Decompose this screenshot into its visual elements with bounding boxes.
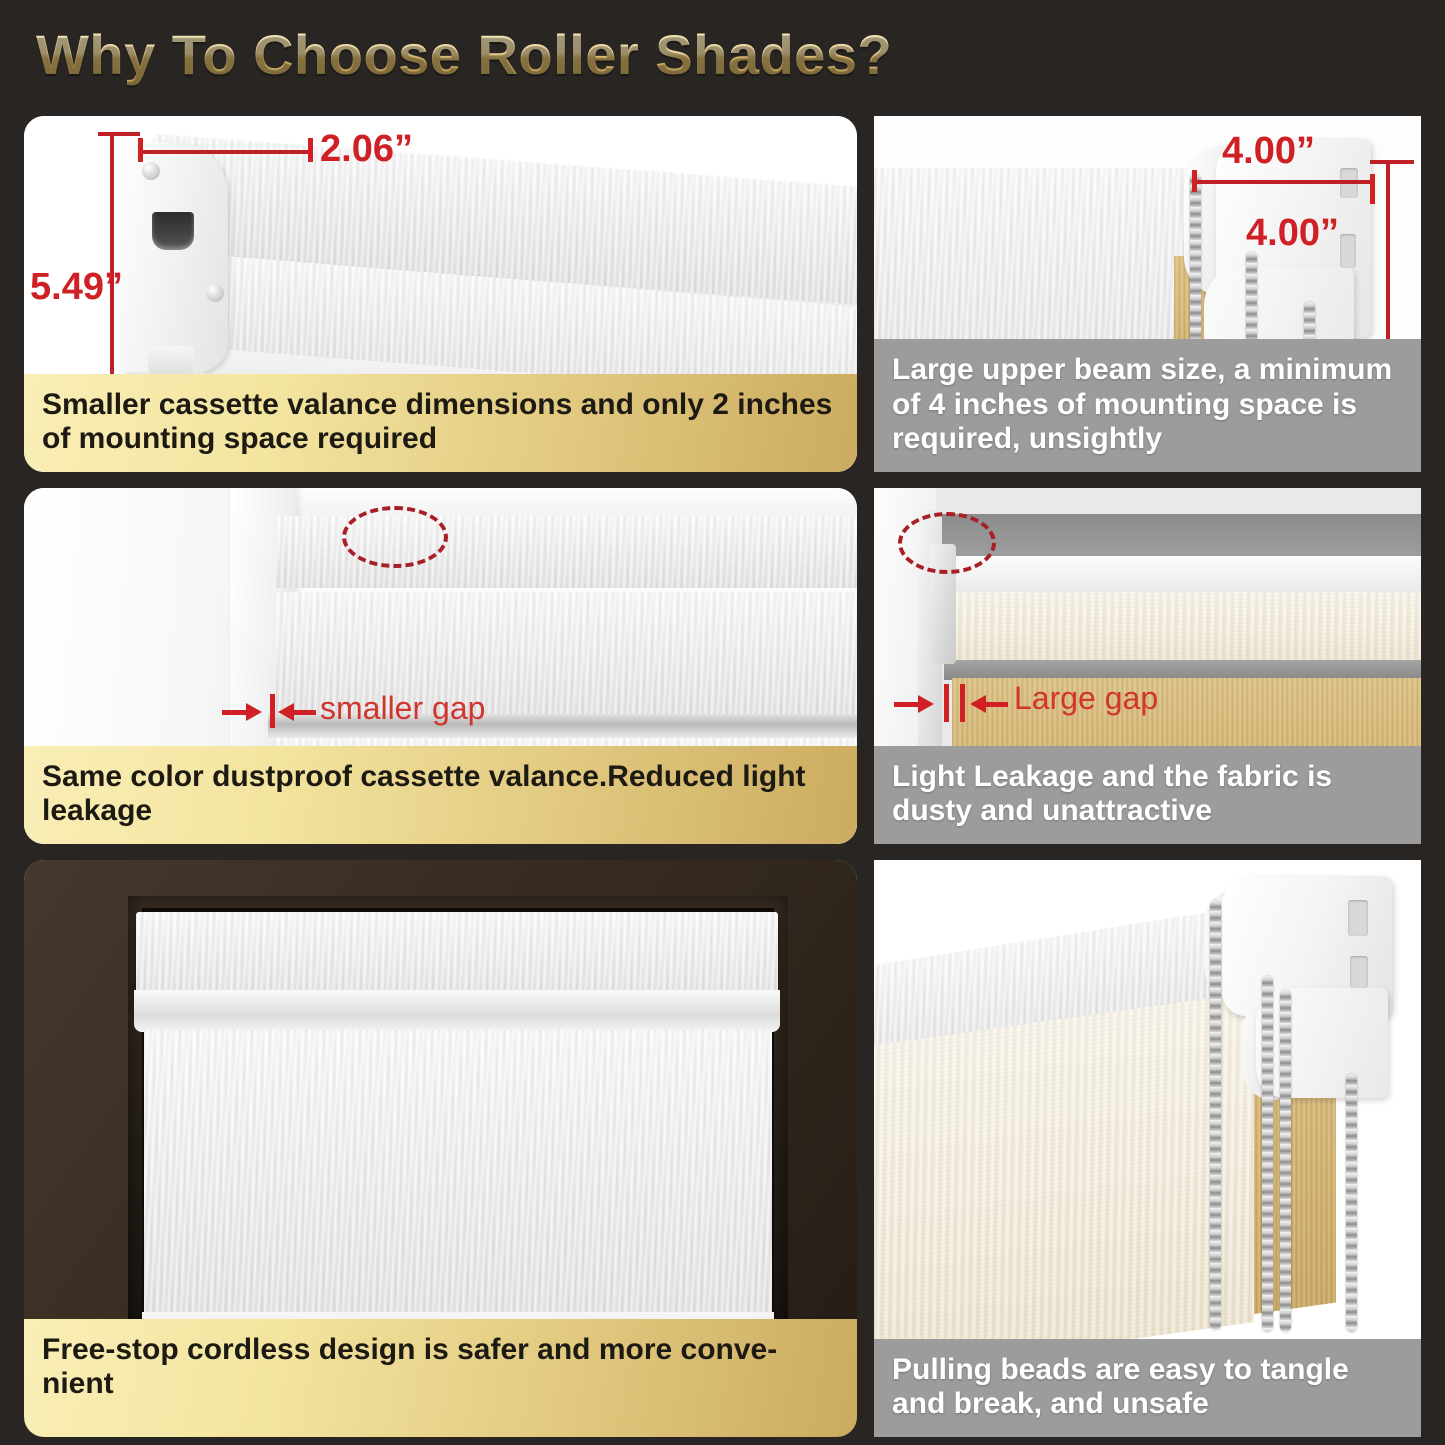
gap-marker	[960, 684, 965, 722]
gap-callout-label: Large gap	[1014, 680, 1158, 717]
width-dimension-tick-left	[1192, 170, 1197, 192]
width-dimension-label: 2.06”	[320, 128, 413, 171]
page-header: Why To Choose Roller Shades?	[0, 0, 1445, 108]
panel-3-caption: Same color dustproof cassette valance.Re…	[24, 746, 857, 844]
shade-fabric-cream	[952, 592, 1421, 662]
panel-pulling-beads: Pulling beads are easy to tangle and bre…	[874, 860, 1421, 1437]
arrow-left-icon	[970, 695, 986, 713]
rail-shadow	[944, 660, 1421, 680]
height-dimension-tick-top	[98, 132, 140, 136]
panel-light-leakage: Large gap Light Leakage and the fabric i…	[874, 488, 1421, 844]
page-title: Why To Choose Roller Shades?	[36, 22, 892, 87]
bracket-slot	[1348, 900, 1368, 936]
bead-chain	[1280, 990, 1291, 1332]
width-dimension-tick-left	[138, 138, 143, 162]
highlight-ellipse-icon	[898, 512, 996, 574]
width-dimension-label: 4.00”	[1222, 130, 1315, 173]
gap-marker	[944, 684, 949, 722]
roller-shade-fabric	[874, 992, 1254, 1378]
valance-end-cap	[120, 142, 228, 372]
screw-icon	[142, 162, 160, 180]
arrow-right-icon	[246, 703, 262, 721]
bead-chain	[1210, 900, 1221, 1330]
panel-6-caption: Pulling beads are easy to tangle and bre…	[874, 1339, 1421, 1437]
width-dimension-line	[140, 150, 312, 154]
valance-lip	[134, 990, 780, 1032]
bracket-slot	[1350, 956, 1368, 988]
gap-arrow-stem-right	[294, 710, 316, 715]
width-dimension-line	[1194, 180, 1374, 184]
panel-2-caption: Large upper beam size, a minimum of 4 in…	[874, 339, 1421, 472]
gap-arrow-stem-right	[986, 702, 1008, 707]
width-dimension-tick-right	[1370, 174, 1375, 204]
height-dimension-label: 5.49”	[30, 266, 123, 309]
comparison-grid: 2.06” 5.49” Smaller cassette valance dim…	[0, 108, 1445, 1445]
gap-callout-label: smaller gap	[320, 690, 485, 727]
gap-marker	[270, 694, 275, 728]
panel-large-beam: 4.00” 4.00” Large upper beam size, a min…	[874, 116, 1421, 472]
upper-beam-shadow	[936, 514, 1421, 558]
end-cap-slot	[152, 212, 194, 250]
bead-chain	[1262, 976, 1273, 1332]
panel-smaller-cassette: 2.06” 5.49” Smaller cassette valance dim…	[24, 116, 857, 472]
width-dimension-tick-right	[308, 138, 313, 162]
panel-4-caption: Light Leakage and the fabric is dusty an…	[874, 746, 1421, 844]
gap-arrow-stem-left	[222, 710, 248, 715]
arrow-right-icon	[918, 695, 934, 713]
panel-cordless-design: Free-stop cordless design is safer and m…	[24, 860, 857, 1437]
roller-shade-fabric	[144, 1030, 772, 1318]
panel-1-caption: Smaller cassette valance dimensions and …	[24, 374, 857, 472]
arrow-left-icon	[278, 703, 294, 721]
bead-chain	[1346, 1074, 1357, 1332]
highlight-ellipse-icon	[342, 506, 448, 568]
height-dimension-label: 4.00”	[1246, 212, 1339, 255]
height-dimension-tick-top	[1370, 160, 1414, 164]
panel-dustproof-valance: smaller gap Same color dustproof cassett…	[24, 488, 857, 844]
mounting-bracket-lower	[1256, 988, 1388, 1098]
bracket-slot	[1340, 234, 1356, 268]
gap-arrow-stem-left	[894, 702, 920, 707]
screw-icon	[206, 284, 224, 302]
panel-5-caption: Free-stop cordless design is safer and m…	[24, 1319, 857, 1437]
